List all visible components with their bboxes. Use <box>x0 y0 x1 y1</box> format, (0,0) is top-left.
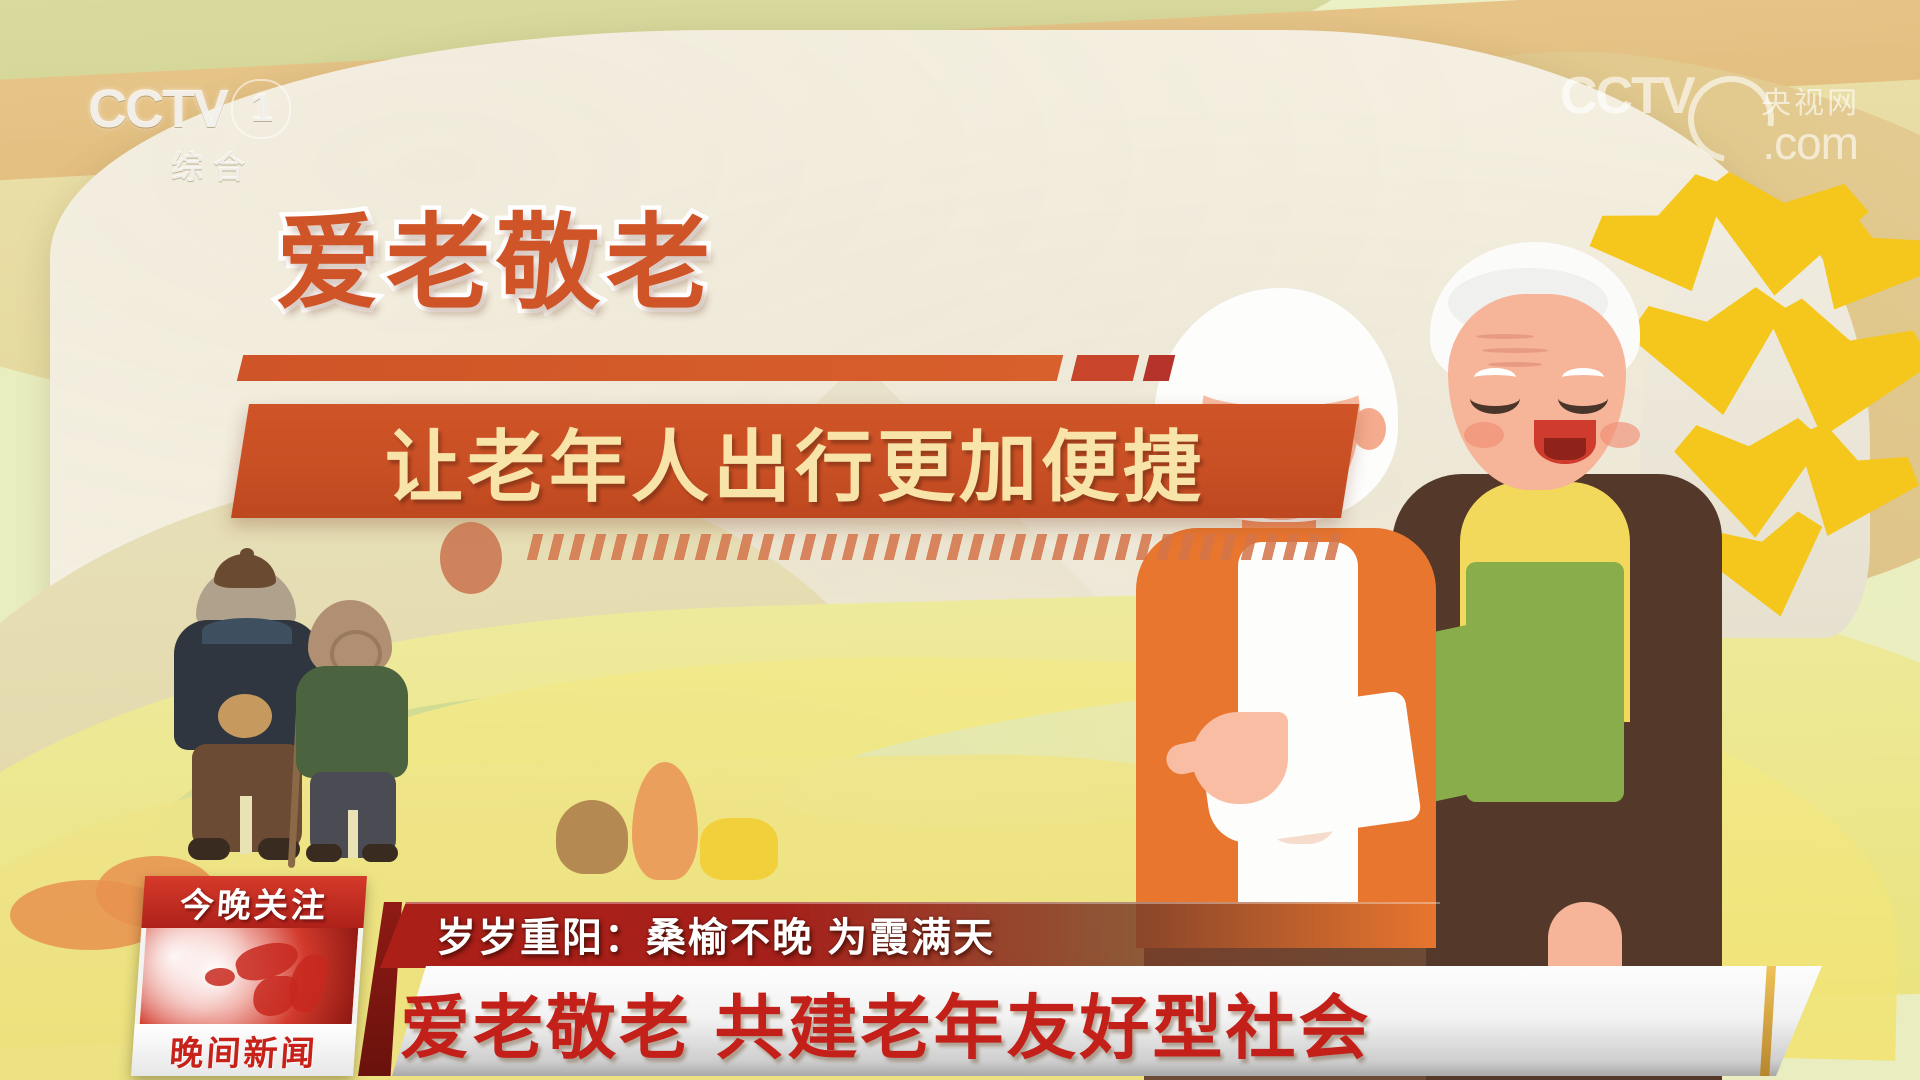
decorative-dashed-line <box>527 534 1343 560</box>
man-shoe-left <box>188 838 230 860</box>
woman-shoe-right <box>362 844 398 862</box>
cctv-channel-logo: CCTV1 综合 <box>88 78 338 188</box>
elder-man-eye-left <box>1470 382 1520 414</box>
program-badge: 今晚关注 晚间新闻 <box>131 876 367 1076</box>
woman-shoe-left <box>306 844 342 862</box>
walking-elderly-couple-illustration <box>140 548 420 868</box>
watermark-domain-text: .com <box>1762 116 1858 170</box>
lower-third-headline-text: 爱老敬老 共建老年友好型社会 <box>400 972 1371 1072</box>
elder-man-cheek-right <box>1600 422 1640 448</box>
lower-third-topic-text: 岁岁重阳：桑榆不晚 为霞满天 <box>436 908 995 960</box>
elder-man-forehead-line <box>1488 362 1542 367</box>
title-headline: 爱老敬老 <box>276 212 716 316</box>
cctv-dot-com-watermark: CCTV 央视网 .com <box>1560 72 1860 172</box>
program-name-label: 晚间新闻 <box>131 1024 357 1076</box>
elder-man-mouth-inner <box>1544 438 1586 460</box>
elder-man-forehead-line <box>1482 348 1548 353</box>
background-tree-yellow <box>700 818 778 880</box>
globe-icon <box>135 928 364 1024</box>
elder-man-eye-right <box>1558 382 1608 414</box>
title-accent-bar <box>237 355 1243 381</box>
accent-bar-segment-small <box>1143 355 1175 381</box>
title-subtitle-banner: 让老年人出行更加便捷 <box>231 404 1359 518</box>
cctv-logo-channel-number: 1 <box>231 79 291 139</box>
lower-third-left-cap <box>358 902 402 1076</box>
man-collar <box>202 618 292 644</box>
cctv-logo-subtitle: 综合 <box>88 142 338 188</box>
background-tree-brown <box>556 800 628 874</box>
woman-green-top <box>296 666 408 778</box>
program-strand-label: 今晚关注 <box>141 876 367 928</box>
tv-broadcast-frame: CCTV1 综合 CCTV 央视网 .com 爱老敬老 让老年人出行更加便捷 今… <box>0 0 1920 1080</box>
accent-bar-segment-mid <box>1071 355 1139 381</box>
background-tree-orange <box>632 762 698 880</box>
title-subtitle-text: 让老年人出行更加便捷 <box>240 404 1350 518</box>
woman-leg-gap <box>348 810 358 858</box>
elder-man-cheek-left <box>1464 422 1504 448</box>
cctv-logo-name: CCTV <box>88 79 227 139</box>
man-jacket-patch <box>218 694 272 738</box>
elder-man-forehead-line <box>1476 334 1534 339</box>
man-cap-tuft <box>240 548 254 560</box>
man-leg-gap <box>240 796 252 854</box>
cctv-logo-wordmark: CCTV1 <box>88 78 338 140</box>
decorative-dot <box>440 522 502 594</box>
accent-bar-segment-long <box>237 355 1063 381</box>
